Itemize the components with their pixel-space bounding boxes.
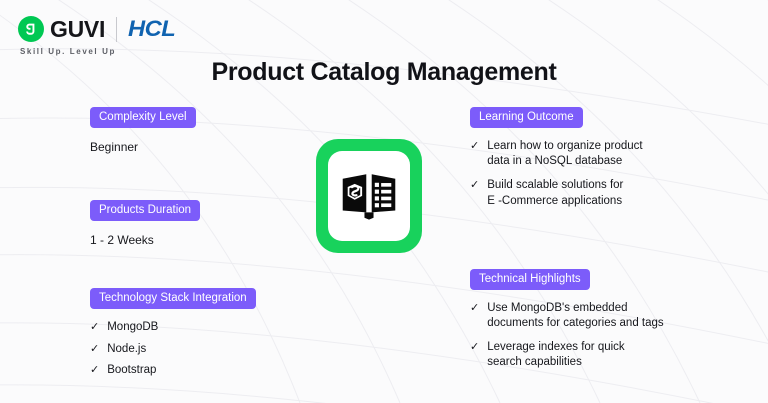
- page-title: Product Catalog Management: [0, 58, 768, 87]
- block-products-duration: Products Duration 1 - 2 Weeks: [90, 200, 320, 249]
- list-item: ✓ Bootstrap: [90, 363, 320, 378]
- list-item: ✓ Build scalable solutions for E -Commer…: [470, 178, 710, 208]
- badge-technical-highlights: Technical Highlights: [470, 269, 590, 290]
- spacer: [90, 156, 320, 200]
- slide-canvas: GUVI HCL Skill Up. Level Up Product Cata…: [0, 0, 768, 403]
- badge-products-duration: Products Duration: [90, 200, 200, 221]
- guvi-g-circle-icon: [18, 16, 44, 42]
- check-icon: ✓: [90, 363, 99, 378]
- list-item: ✓ Learn how to organize product data in …: [470, 139, 710, 169]
- list-item-label: Node.js: [107, 342, 146, 357]
- check-icon: ✓: [90, 320, 99, 335]
- list-item: ✓ Use MongoDB's embedded documents for c…: [470, 301, 710, 331]
- list-item-label: MongoDB: [107, 320, 158, 335]
- icon-inner-plate: [328, 151, 410, 241]
- list-item-label: Use MongoDB's embedded documents for cat…: [487, 301, 663, 331]
- list-item: ✓ MongoDB: [90, 320, 320, 335]
- guvi-logo: GUVI: [18, 16, 105, 42]
- right-column: Learning Outcome ✓ Learn how to organize…: [470, 107, 710, 371]
- list-item-label: Leverage indexes for quick search capabi…: [487, 340, 624, 370]
- check-icon: ✓: [470, 340, 479, 355]
- list-item-label: Learn how to organize product data in a …: [487, 139, 642, 169]
- list-item: ✓ Node.js: [90, 342, 320, 357]
- list-technical-highlights: ✓ Use MongoDB's embedded documents for c…: [470, 301, 710, 371]
- check-icon: ✓: [470, 139, 479, 154]
- hcl-wordmark: HCL: [128, 18, 175, 40]
- left-column: Complexity Level Beginner Products Durat…: [90, 107, 320, 378]
- guvi-wordmark: GUVI: [50, 18, 105, 41]
- list-technology-stack: ✓ MongoDB ✓ Node.js ✓ Bootstrap: [90, 320, 320, 378]
- check-icon: ✓: [470, 301, 479, 316]
- spacer: [90, 248, 320, 288]
- list-item-label: Build scalable solutions for E -Commerce…: [487, 178, 623, 208]
- badge-learning-outcome: Learning Outcome: [470, 107, 583, 128]
- brand-bar: GUVI HCL Skill Up. Level Up: [18, 14, 172, 56]
- open-book-catalog-icon: [316, 139, 422, 253]
- brand-tagline: Skill Up. Level Up: [20, 47, 116, 56]
- check-icon: ✓: [90, 342, 99, 357]
- block-technology-stack-integration: Technology Stack Integration ✓ MongoDB ✓…: [90, 288, 320, 378]
- block-complexity-level: Complexity Level Beginner: [90, 107, 320, 156]
- value-complexity-level: Beginner: [90, 140, 320, 156]
- block-learning-outcome: Learning Outcome ✓ Learn how to organize…: [470, 107, 710, 209]
- book-glyph: [340, 167, 398, 225]
- brand-logo-row: GUVI HCL: [18, 14, 172, 44]
- list-item-label: Bootstrap: [107, 363, 156, 378]
- badge-complexity-level: Complexity Level: [90, 107, 196, 128]
- list-item: ✓ Leverage indexes for quick search capa…: [470, 340, 710, 370]
- badge-technology-stack-integration: Technology Stack Integration: [90, 288, 256, 309]
- check-icon: ✓: [470, 178, 479, 193]
- list-learning-outcome: ✓ Learn how to organize product data in …: [470, 139, 710, 209]
- brand-divider-icon: [116, 17, 117, 42]
- value-products-duration: 1 - 2 Weeks: [90, 233, 320, 249]
- block-technical-highlights: Technical Highlights ✓ Use MongoDB's emb…: [470, 269, 710, 371]
- spacer: [470, 209, 710, 269]
